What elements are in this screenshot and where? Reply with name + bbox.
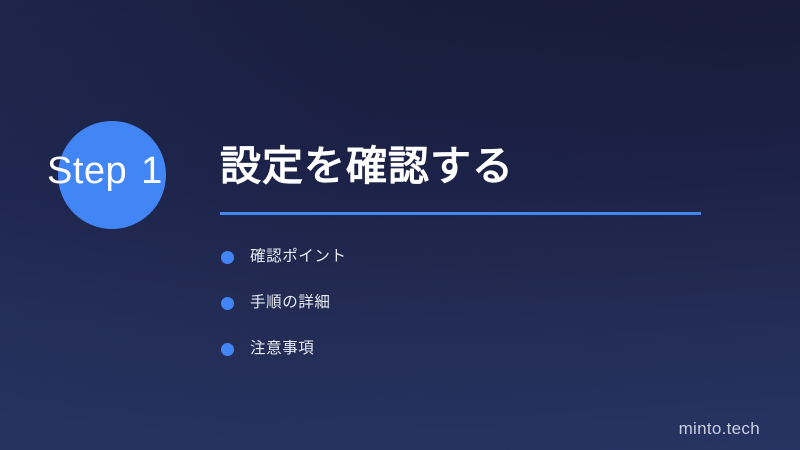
slide-content-layer: Step1 設定を確認する 確認ポイント 手順の詳細 注意事項 minto.te… <box>0 0 800 450</box>
bullet-dot-icon <box>221 297 234 310</box>
title-block: 設定を確認する <box>220 143 780 190</box>
bullet-dot-icon <box>221 251 234 264</box>
bullet-list: 確認ポイント 手順の詳細 注意事項 <box>221 234 741 372</box>
bullet-dot-icon <box>221 343 234 356</box>
list-item: 確認ポイント <box>221 234 741 280</box>
title-divider <box>220 212 701 215</box>
list-item: 手順の詳細 <box>221 280 741 326</box>
page-title: 設定を確認する <box>220 143 780 190</box>
step-number-label: 1 <box>141 150 163 192</box>
bullet-item-label: 確認ポイント <box>250 249 347 265</box>
list-item: 注意事項 <box>221 326 741 372</box>
step-word-label: Step <box>47 150 127 192</box>
footer-brand: minto.tech <box>679 420 760 437</box>
slide-canvas: Step1 設定を確認する 確認ポイント 手順の詳細 注意事項 minto.te… <box>0 0 800 450</box>
step-label: Step1 <box>47 152 163 190</box>
bullet-item-label: 注意事項 <box>250 341 314 357</box>
bullet-item-label: 手順の詳細 <box>250 295 331 311</box>
